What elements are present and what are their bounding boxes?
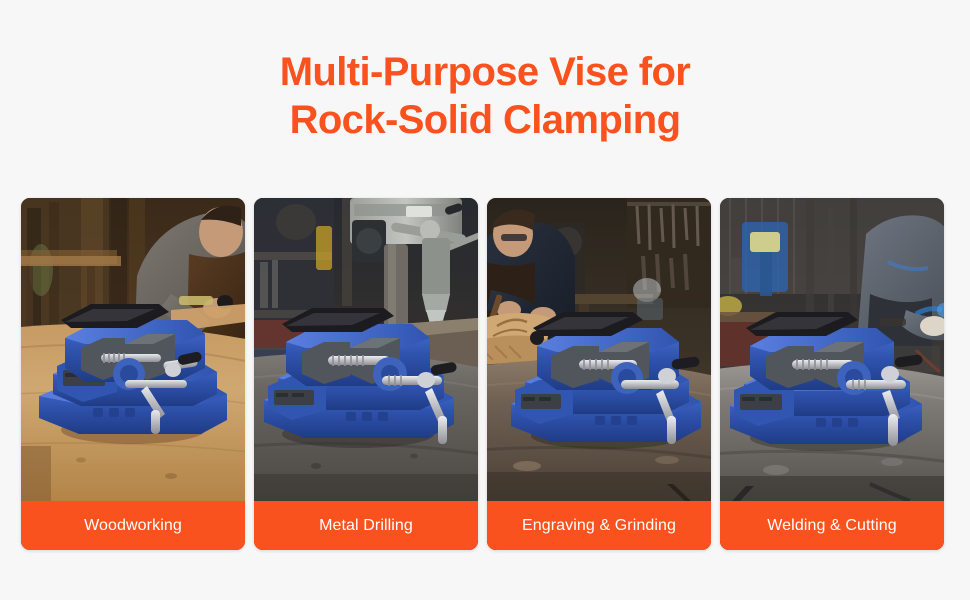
card-caption-woodworking: Woodworking <box>21 501 245 550</box>
page-title: Multi-Purpose Vise for Rock-Solid Clampi… <box>0 48 970 144</box>
feature-card-welding-cutting[interactable]: Welding & Cutting <box>720 198 944 550</box>
photo-woodworking <box>21 198 245 501</box>
feature-card-woodworking[interactable]: Woodworking <box>21 198 245 550</box>
feature-card-metal-drilling[interactable]: Metal Drilling <box>254 198 478 550</box>
photo-welding-cutting <box>720 198 944 501</box>
card-caption-welding-cutting: Welding & Cutting <box>720 501 944 550</box>
feature-card-row: Woodworking <box>21 198 949 550</box>
photo-engraving-grinding <box>487 198 711 501</box>
photo-metal-drilling <box>254 198 478 501</box>
card-caption-engraving-grinding: Engraving & Grinding <box>487 501 711 550</box>
feature-card-engraving-grinding[interactable]: Engraving & Grinding <box>487 198 711 550</box>
card-caption-metal-drilling: Metal Drilling <box>254 501 478 550</box>
